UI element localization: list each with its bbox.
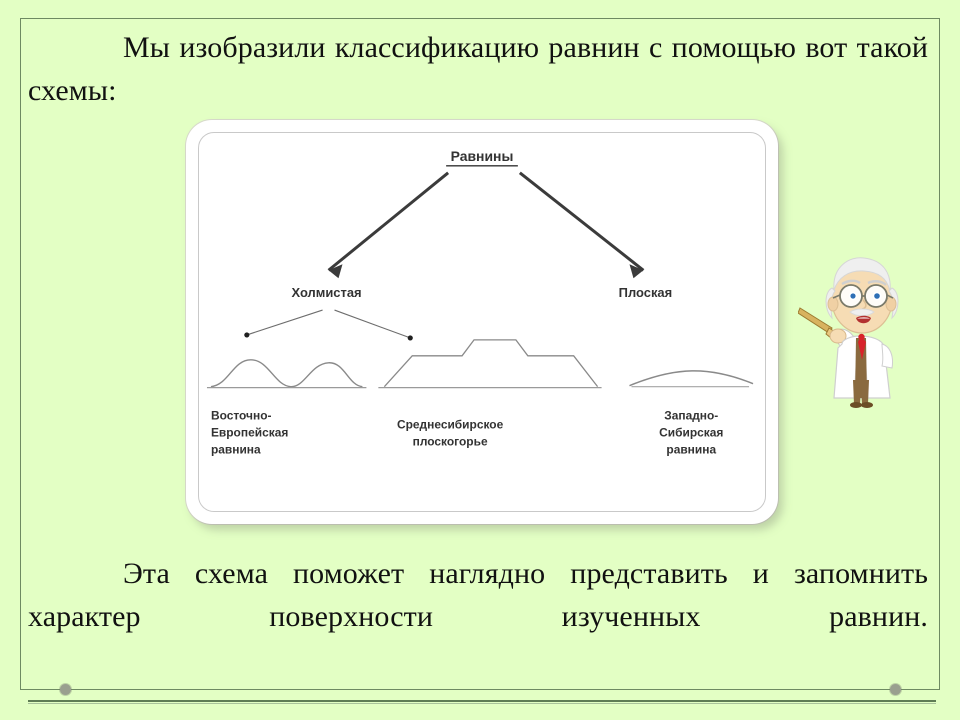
diagram-node-root: Равнины: [446, 148, 518, 166]
professor-with-pointer-icon: [798, 248, 916, 408]
diagram-node-hilly-label: Холмистая: [291, 285, 361, 300]
professor-tie-knot: [858, 334, 864, 340]
diagram-leaf-east-european: Восточно- Европейская равнина: [211, 408, 288, 456]
diagram-node-flat-label: Плоская: [619, 285, 673, 300]
bottom-decorative-rule: [28, 700, 936, 704]
west-siberian-label-line-1: Западно-: [664, 408, 718, 422]
classification-diagram: Равнины Холмистая Плоская: [199, 133, 765, 511]
west-siberian-label-line-3: равнина: [666, 442, 716, 456]
terrain-shape-rolling-hills: [207, 360, 366, 388]
diagram-leaf-central-siberian: Среднесибирское плоскогорье: [397, 417, 504, 448]
arrow-root-to-hilly-line: [329, 173, 449, 270]
terrain-shape-flat-arc: [629, 371, 753, 387]
diagram-card: Равнины Холмистая Плоская: [186, 120, 778, 524]
stepped-plateau-profile: [384, 340, 597, 387]
diagram-leaf-west-siberian: Западно- Сибирская равнина: [659, 408, 723, 456]
closing-paragraph-text: Эта схема поможет наглядно представить и…: [28, 557, 928, 633]
professor-right-arm: [882, 344, 893, 368]
professor-pupil-left: [850, 293, 855, 298]
arrow-hilly-to-east-european-head: [244, 332, 249, 337]
east-european-label-line-3: равнина: [211, 442, 261, 456]
professor-shoe-right: [861, 402, 873, 408]
diagram-root-label: Равнины: [451, 148, 514, 164]
arrow-hilly-to-central-siberian-head: [408, 335, 413, 340]
decorative-dot-right: [890, 684, 901, 695]
closing-paragraph: Эта схема поможет наглядно представить и…: [28, 552, 928, 681]
rolling-hills-profile: [211, 360, 362, 387]
central-siberian-label-line-1: Среднесибирское: [397, 417, 504, 431]
intro-paragraph-text: Мы изобразили классификацию равнин с пом…: [28, 31, 928, 107]
professor-shoe-left: [850, 402, 862, 408]
arrow-hilly-to-central-siberian-line: [335, 310, 411, 338]
west-siberian-label-line-2: Сибирская: [659, 425, 723, 439]
flat-arc-profile: [629, 371, 753, 386]
east-european-label-line-2: Европейская: [211, 425, 288, 439]
arrow-root-to-flat-line: [520, 173, 644, 270]
professor-pupil-right: [874, 293, 880, 299]
east-european-label-line-1: Восточно-: [211, 408, 272, 422]
diagram-canvas: Равнины Холмистая Плоская: [198, 132, 766, 512]
arrow-root-to-hilly: [329, 173, 449, 278]
professor-illustration: [798, 248, 916, 408]
arrow-hilly-to-east-european-line: [247, 310, 323, 335]
professor-mustache: [850, 309, 874, 316]
professor-ear-right: [886, 297, 896, 311]
professor-ear-left: [828, 297, 838, 311]
central-siberian-label-line-2: плоскогорье: [413, 434, 488, 448]
arrow-hilly-to-east-european: [244, 310, 322, 337]
terrain-shape-stepped-plateau: [378, 340, 601, 388]
arrow-hilly-to-central-siberian: [335, 310, 413, 340]
decorative-dot-left: [60, 684, 71, 695]
arrow-root-to-flat: [520, 173, 644, 278]
